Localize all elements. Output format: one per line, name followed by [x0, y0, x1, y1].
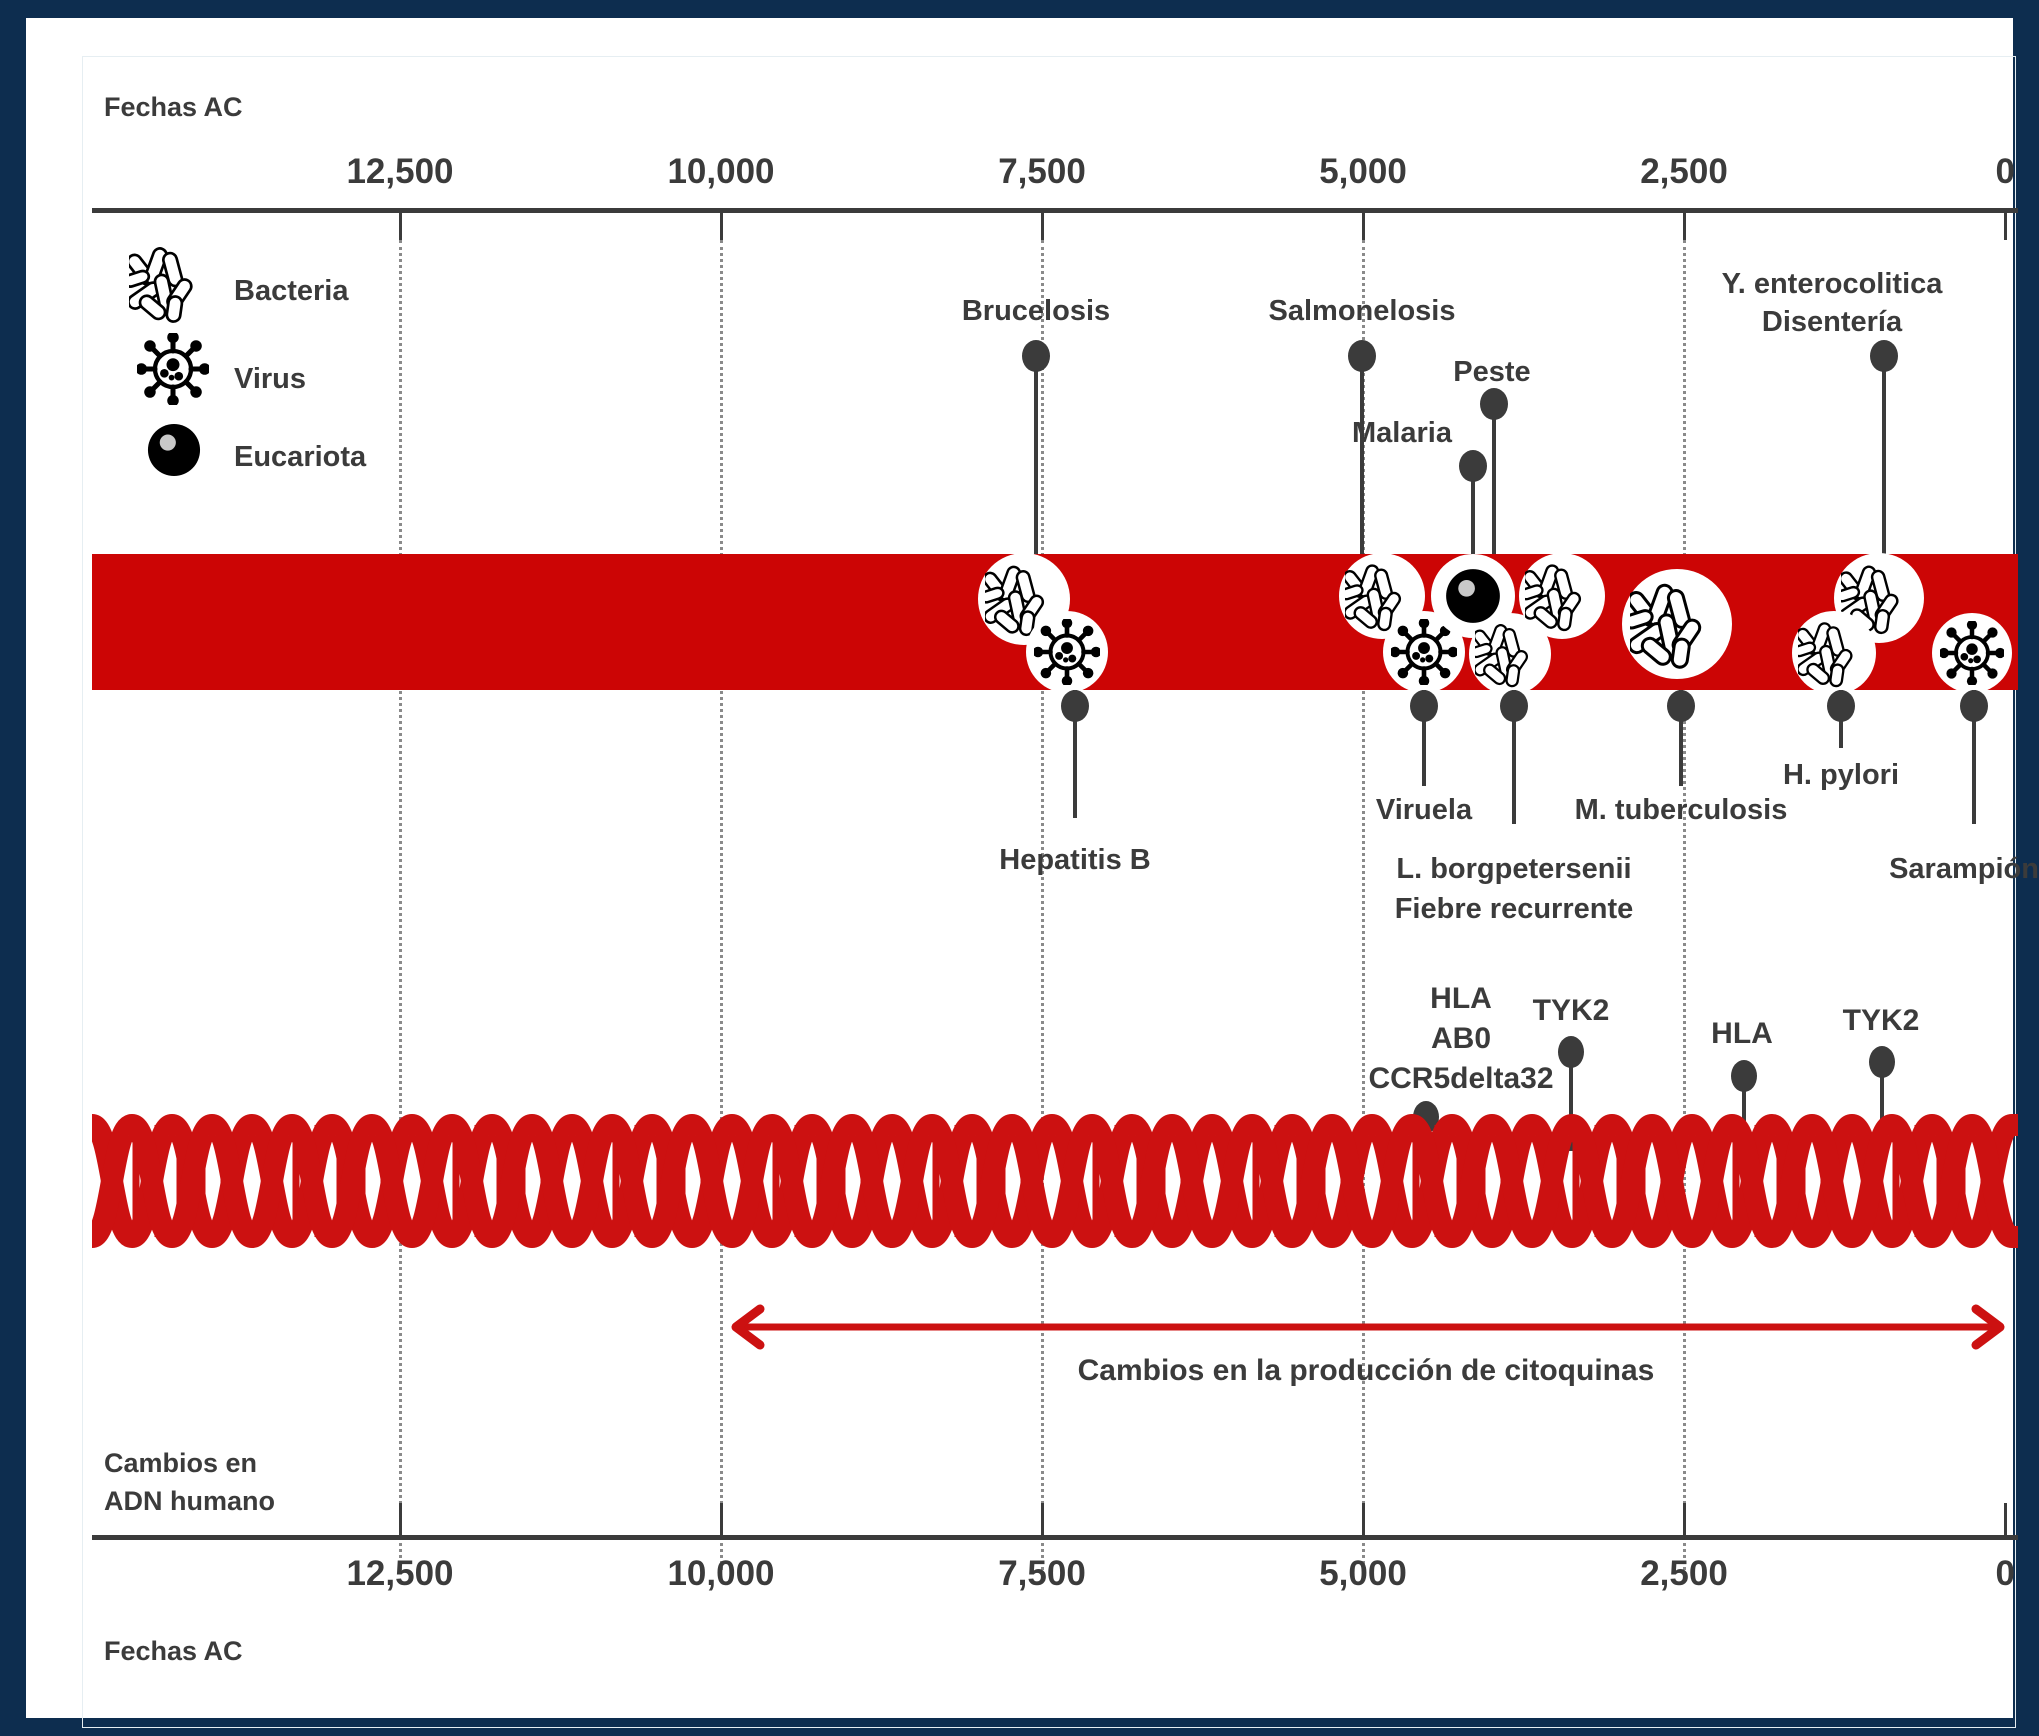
marker-malaria[interactable]	[1455, 450, 1491, 554]
disease-label-y-enterocolitica-line1: Y. enterocolitica	[1622, 267, 2039, 301]
bottom-tick-label-0: 0	[1905, 1553, 2015, 1594]
top-axis-tick	[1683, 208, 1686, 240]
infographic-canvas: Fechas AC 12,500 10,000 7,500 5,000 2,50…	[26, 18, 2013, 1718]
top-axis-tick	[720, 208, 723, 240]
virus-icon	[1026, 611, 1108, 693]
disease-label-h-pylori: H. pylori	[1721, 758, 1961, 792]
marker-viruela[interactable]	[1406, 690, 1442, 800]
legend-label-virus: Virus	[234, 362, 306, 396]
cytokine-arrow-label: Cambios en la producción de citoquinas	[886, 1353, 1846, 1388]
disease-label-peste: Peste	[1362, 355, 1622, 389]
marker-y-enterocolitica[interactable]	[1866, 340, 1902, 554]
top-tick-label-7500: 7,500	[942, 151, 1142, 192]
bottom-axis-tick	[720, 1503, 723, 1535]
top-tick-label-0: 0	[1905, 151, 2015, 192]
gene-label-tyk2-b: TYK2	[1761, 1003, 2001, 1038]
infographic-page: Fechas AC 12,500 10,000 7,500 5,000 2,50…	[0, 0, 2039, 1736]
top-tick-label-12500: 12,500	[300, 151, 500, 192]
top-axis-caption: Fechas AC	[104, 92, 243, 124]
disease-label-malaria: Malaria	[1292, 416, 1512, 450]
disease-label-salmonelosis: Salmonelosis	[1212, 294, 1512, 328]
bottom-tick-label-7500: 7,500	[942, 1553, 1142, 1594]
virus-icon	[1932, 613, 2012, 693]
marker-sarampion[interactable]	[1956, 690, 1992, 838]
disease-label-l-borgpetersenii-line1: L. borgpetersenii	[1339, 852, 1689, 886]
bottom-tick-label-12500: 12,500	[300, 1553, 500, 1594]
cytokine-change-arrow	[716, 1303, 2020, 1351]
virus-icon	[134, 330, 212, 408]
bottom-axis-caption: Fechas AC	[104, 1636, 243, 1668]
marker-m-tuberculosis[interactable]	[1663, 690, 1699, 800]
disease-label-m-tuberculosis: M. tuberculosis	[1531, 793, 1831, 827]
bottom-axis-tick	[1362, 1503, 1365, 1535]
bacteria-icon	[1519, 553, 1605, 639]
eukaryote-icon	[142, 418, 206, 482]
marker-h-pylori[interactable]	[1823, 690, 1859, 762]
bottom-tick-label-5000: 5,000	[1263, 1553, 1463, 1594]
marker-brucelosis[interactable]	[1018, 340, 1054, 554]
disease-label-disenteria-line2: Disentería	[1622, 305, 2039, 339]
top-axis-tick	[1041, 208, 1044, 240]
bottom-axis-tick	[2004, 1503, 2007, 1535]
top-axis-tick	[1362, 208, 1365, 240]
bottom-tick-label-2500: 2,500	[1584, 1553, 1784, 1594]
disease-label-sarampion: Sarampión	[1844, 852, 2039, 886]
dna-caption-line1: Cambios en	[104, 1448, 257, 1480]
top-axis-line	[92, 208, 2018, 213]
bottom-axis-tick	[1683, 1503, 1686, 1535]
top-axis-tick	[399, 208, 402, 240]
disease-label-brucelosis: Brucelosis	[886, 294, 1186, 328]
legend-label-eucariota: Eucariota	[234, 440, 366, 474]
disease-label-fiebre-recurrente-line2: Fiebre recurrente	[1339, 892, 1689, 926]
gridline-12500	[399, 240, 402, 1570]
bottom-tick-label-10000: 10,000	[621, 1553, 821, 1594]
bacteria-icon	[126, 238, 216, 328]
gridline-10000	[720, 240, 723, 1570]
disease-label-hepatitis-b: Hepatitis B	[925, 843, 1225, 877]
bottom-axis-line	[92, 1535, 2018, 1540]
marker-l-borgpetersenii[interactable]	[1496, 690, 1532, 838]
top-tick-label-5000: 5,000	[1263, 151, 1463, 192]
dna-caption-line2: ADN humano	[104, 1486, 275, 1518]
dna-double-helix	[92, 1111, 2018, 1251]
legend-label-bacteria: Bacteria	[234, 274, 348, 308]
marker-hepatitis-b[interactable]	[1057, 690, 1093, 832]
bacteria-icon	[1622, 569, 1732, 679]
bacteria-icon	[1792, 611, 1876, 695]
bottom-axis-tick	[1041, 1503, 1044, 1535]
top-axis-tick	[2004, 208, 2007, 240]
bottom-axis-tick	[399, 1503, 402, 1535]
top-tick-label-2500: 2,500	[1584, 151, 1784, 192]
top-tick-label-10000: 10,000	[621, 151, 821, 192]
